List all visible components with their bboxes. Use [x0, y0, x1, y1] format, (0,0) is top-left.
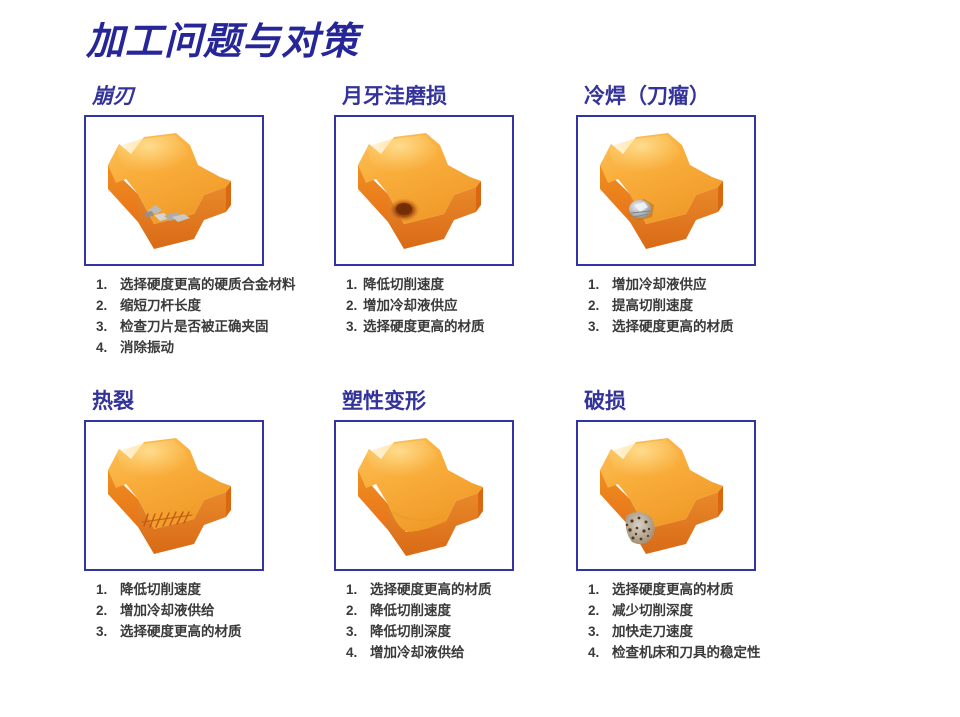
cell-heading-chipping: 崩刃	[92, 84, 134, 110]
illustration-frame-breakage	[576, 420, 756, 571]
list-item: 1.选择硬度更高的硬质合金材料	[96, 274, 376, 295]
list-item-number: 4.	[346, 642, 370, 663]
cell-heading-breakage: 破损	[584, 389, 626, 415]
list-item-text: 检查机床和刀具的稳定性	[612, 642, 868, 663]
list-item: 2.减少切削深度	[588, 600, 868, 621]
list-item-text: 选择硬度更高的材质	[612, 316, 868, 337]
list-item: 3.检查刀片是否被正确夹固	[96, 316, 376, 337]
page-title: 加工问题与对策	[86, 18, 359, 66]
list-item: 4.消除振动	[96, 337, 376, 358]
list-item-number: 1.	[588, 579, 612, 600]
list-item-number: 3.	[346, 316, 363, 337]
insert-crater-wear-illustration	[336, 117, 512, 264]
insert-chipping-illustration	[86, 117, 262, 264]
list-item-text: 选择硬度更高的材质	[120, 621, 376, 642]
list-item-text: 增加冷却液供应	[363, 295, 626, 316]
list-item-number: 2.	[346, 600, 370, 621]
list-item: 2.增加冷却液供给	[96, 600, 376, 621]
list-item-text: 缩短刀杆长度	[120, 295, 376, 316]
list-item-text: 选择硬度更高的材质	[612, 579, 868, 600]
list-item: 1.选择硬度更高的材质	[588, 579, 868, 600]
list-item: 1.增加冷却液供应	[588, 274, 868, 295]
list-item: 3.加快走刀速度	[588, 621, 868, 642]
list-item-number: 3.	[96, 316, 120, 337]
steps-list-thermal-cracking: 1.降低切削速度 2.增加冷却液供给 3.选择硬度更高的材质	[96, 579, 376, 642]
list-item-number: 1.	[346, 274, 363, 295]
steps-list-built-up-edge: 1.增加冷却液供应 2.提高切削速度 3.选择硬度更高的材质	[588, 274, 868, 337]
insert-breakage-illustration	[578, 422, 754, 569]
list-item-number: 4.	[588, 642, 612, 663]
list-item-number: 3.	[96, 621, 120, 642]
list-item: 4.检查机床和刀具的稳定性	[588, 642, 868, 663]
damage-breakage	[626, 512, 655, 544]
list-item: 4.增加冷却液供给	[346, 642, 626, 663]
steps-list-crater-wear: 1.降低切削速度 2.增加冷却液供应 3.选择硬度更高的材质	[346, 274, 626, 337]
list-item: 1.选择硬度更高的材质	[346, 579, 626, 600]
list-item: 2.缩短刀杆长度	[96, 295, 376, 316]
list-item: 3.选择硬度更高的材质	[96, 621, 376, 642]
illustration-frame-plastic-deformation	[334, 420, 514, 571]
list-item-number: 3.	[346, 621, 370, 642]
list-item: 2.降低切削速度	[346, 600, 626, 621]
list-item-text: 降低切削速度	[363, 274, 626, 295]
list-item-number: 1.	[96, 579, 120, 600]
cell-heading-plastic-deformation: 塑性变形	[342, 389, 426, 415]
list-item-number: 1.	[96, 274, 120, 295]
list-item-number: 2.	[96, 295, 120, 316]
list-item-text: 提高切削速度	[612, 295, 868, 316]
list-item-text: 选择硬度更高的材质	[363, 316, 626, 337]
list-item-text: 减少切削深度	[612, 600, 868, 621]
list-item: 3.降低切削深度	[346, 621, 626, 642]
cell-heading-thermal-cracking: 热裂	[92, 389, 134, 415]
list-item-text: 检查刀片是否被正确夹固	[120, 316, 376, 337]
list-item-number: 1.	[588, 274, 612, 295]
illustration-frame-thermal-cracking	[84, 420, 264, 571]
steps-list-plastic-deformation: 1.选择硬度更高的材质 2.降低切削速度 3.降低切削深度 4.增加冷却液供给	[346, 579, 626, 663]
cell-heading-crater-wear: 月牙洼磨损	[342, 84, 447, 110]
list-item-number: 4.	[96, 337, 120, 358]
list-item-text: 降低切削速度	[120, 579, 376, 600]
list-item: 1.降低切削速度	[346, 274, 626, 295]
steps-list-breakage: 1.选择硬度更高的材质 2.减少切削深度 3.加快走刀速度 4.检查机床和刀具的…	[588, 579, 868, 663]
damage-crater-wear	[388, 198, 420, 222]
list-item-text: 消除振动	[120, 337, 376, 358]
list-item-number: 2.	[588, 295, 612, 316]
illustration-frame-chipping	[84, 115, 264, 266]
list-item-number: 1.	[346, 579, 370, 600]
list-item: 2.增加冷却液供应	[346, 295, 626, 316]
insert-built-up-edge-illustration	[578, 117, 754, 264]
list-item: 2.提高切削速度	[588, 295, 868, 316]
illustration-frame-built-up-edge	[576, 115, 756, 266]
insert-thermal-cracking-illustration	[86, 422, 262, 569]
list-item-number: 2.	[96, 600, 120, 621]
steps-list-chipping: 1.选择硬度更高的硬质合金材料 2.缩短刀杆长度 3.检查刀片是否被正确夹固 4…	[96, 274, 376, 358]
list-item-text: 选择硬度更高的硬质合金材料	[120, 274, 376, 295]
insert-plastic-deformation-illustration	[336, 422, 512, 569]
list-item: 3.选择硬度更高的材质	[588, 316, 868, 337]
list-item-number: 3.	[588, 621, 612, 642]
list-item: 3.选择硬度更高的材质	[346, 316, 626, 337]
cell-heading-built-up-edge: 冷焊（刀瘤）	[584, 84, 710, 110]
list-item-number: 2.	[588, 600, 612, 621]
list-item-text: 增加冷却液供应	[612, 274, 868, 295]
list-item-text: 加快走刀速度	[612, 621, 868, 642]
slide-canvas: 加工问题与对策 崩刃	[0, 0, 960, 717]
list-item: 1.降低切削速度	[96, 579, 376, 600]
list-item-number: 2.	[346, 295, 363, 316]
list-item-text: 增加冷却液供给	[120, 600, 376, 621]
list-item-number: 3.	[588, 316, 612, 337]
illustration-frame-crater-wear	[334, 115, 514, 266]
